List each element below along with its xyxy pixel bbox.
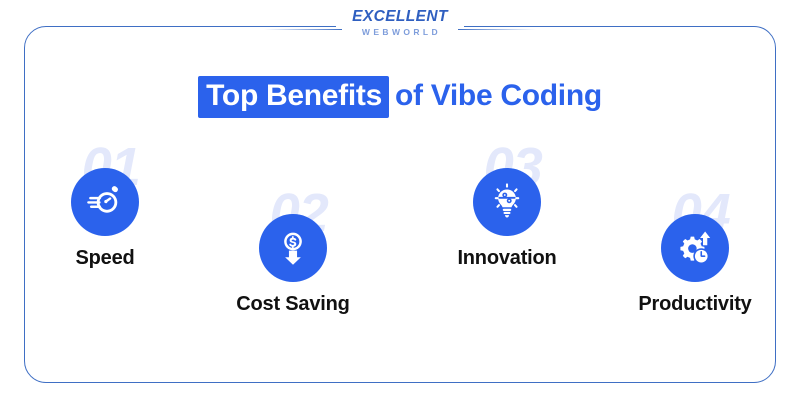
benefits-list: 01 [24,140,776,365]
benefit-item-cost-saving[interactable]: 02 Cost Saving [198,188,388,316]
benefit-label: Speed [10,247,200,270]
benefit-icon-group: 03 [412,142,602,238]
benefit-item-innovation[interactable]: 03 [412,142,602,270]
page-title: Top Benefitsof Vibe Coding [0,76,800,116]
benefit-label: Productivity [600,293,790,316]
benefit-icon-group: 04 [600,188,790,284]
speedometer-icon [86,183,124,221]
title-rest: of Vibe Coding [389,79,602,112]
benefit-icon-group: 01 [10,142,200,238]
gear-clock-arrow-icon [676,229,714,267]
benefit-label: Cost Saving [198,293,388,316]
title-highlight: Top Benefits [198,76,389,118]
lightbulb-circuit-icon [488,183,526,221]
dollar-down-arrow-icon [275,230,311,266]
brand-name-main: EXCELLENT [352,9,448,25]
infographic-page: EXCELLENT WEBWORLD Top Benefitsof Vibe C… [0,0,800,400]
benefit-item-productivity[interactable]: 04 [600,188,790,316]
benefit-icon-circle [71,168,139,236]
benefit-icon-circle [473,168,541,236]
benefit-icon-circle [661,214,729,282]
benefit-item-speed[interactable]: 01 [10,142,200,270]
benefit-label: Innovation [412,247,602,270]
benefit-icon-group: 02 [198,188,388,284]
benefit-icon-circle [259,214,327,282]
